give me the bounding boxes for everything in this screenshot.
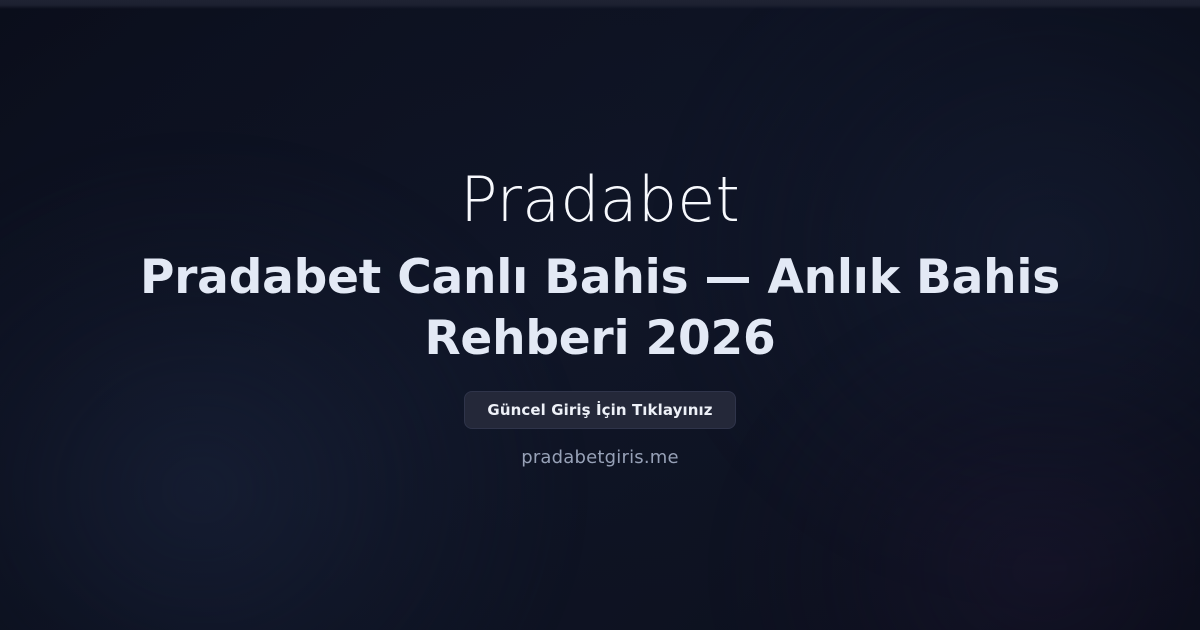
page-headline: Pradabet Canlı Bahis — Anlık Bahis Rehbe… [55, 247, 1145, 369]
current-login-cta-button[interactable]: Güncel Giriş İçin Tıklayınız [464, 391, 735, 429]
card-content: Pradabet Pradabet Canlı Bahis — Anlık Ba… [0, 0, 1200, 630]
og-share-card: Pradabet Pradabet Canlı Bahis — Anlık Ba… [0, 0, 1200, 630]
brand-title: Pradabet [460, 168, 740, 232]
domain-label: pradabetgiris.me [521, 447, 679, 468]
